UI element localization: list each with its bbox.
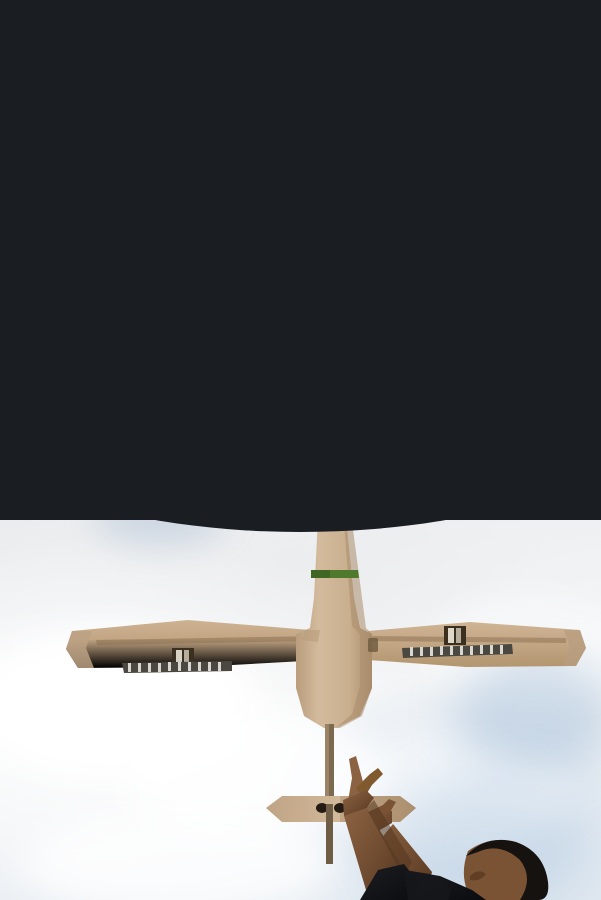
person-reaching-up [0, 478, 601, 900]
header-panel [0, 0, 601, 520]
report-cover: UNIDIR FULL REPORT The use of uncrewed a… [0, 0, 601, 900]
cover-photograph [0, 478, 601, 900]
